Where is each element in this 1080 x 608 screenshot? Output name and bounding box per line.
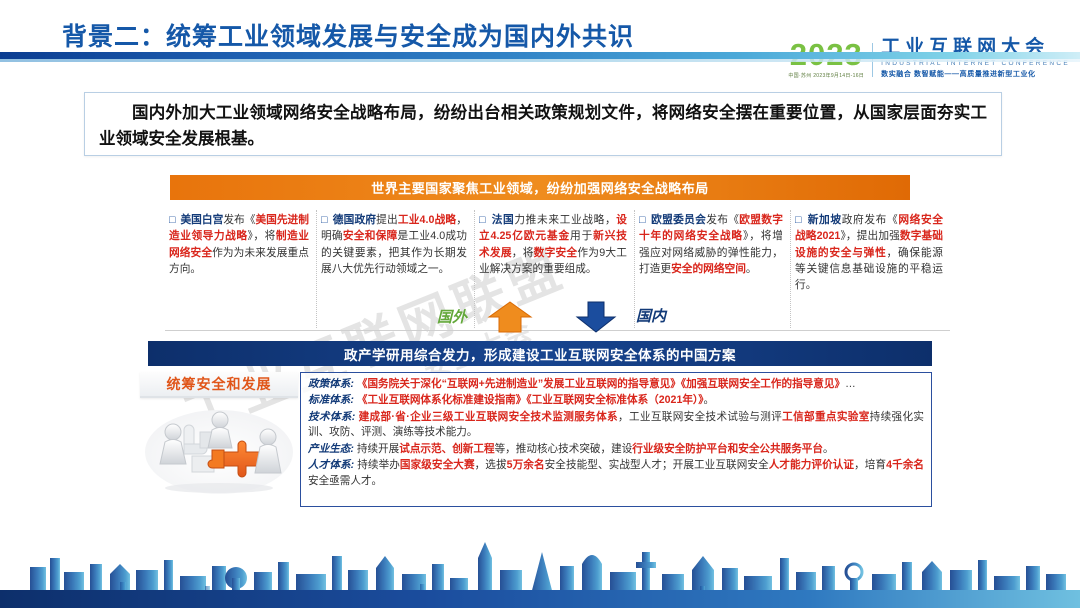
content-row: 技术体系: 建成部·省·企业三级工业互联网安全技术监测服务体系，工业互联网安全技… [308,410,924,441]
card-bullet-icon: □ [479,214,490,226]
banner-blue: 政产学研用综合发力，形成建设工业互联网安全体系的中国方案 [148,341,932,366]
card-country-name: 新加坡 [808,214,842,226]
teamwork-puzzle-illustration [140,404,298,496]
highlight-text: 工信部重点实验室 [782,411,870,423]
header-rule-secondary [0,59,1080,62]
highlight-text: 行业级安全防护平台和安全公共服务平台 [632,443,823,455]
china-plan-content-box: 政策体系: 《国务院关于深化“互联网+先进制造业”发展工业互联网的指导意见》《加… [300,372,932,507]
content-row-list: 政策体系: 《国务院关于深化“互联网+先进制造业”发展工业互联网的指导意见》《加… [308,377,924,489]
card-country-name: 德国政府 [333,214,376,226]
page-title: 背景二：统筹工业领域发展与安全成为国内外共识 [62,17,634,53]
lead-statement-box: 国内外加大工业领域网络安全战略布局，纷纷出台相关政策规划文件，将网络安全摆在重要… [84,92,1002,156]
body-text: 持续开展 [354,443,399,455]
card-bullet-icon: □ [639,214,649,226]
tag-overseas: 国外 [437,306,467,327]
tag-domestic: 国内 [636,305,666,326]
card-bullet-icon: □ [321,214,331,226]
left-label-group: 统筹安全和发展 [140,372,300,496]
highlight-text: 数字安全 [534,247,578,259]
content-row: 人才体系: 持续举办国家级安全大赛，选拔5万余名安全技能型、实战型人才；开展工业… [308,458,924,489]
content-row-key: 政策体系: [308,378,354,390]
highlight-text: 《国务院关于深化“互联网+先进制造业”发展工业互联网的指导意见》《加强互联网安全… [357,378,845,390]
body-text: 发布《 [706,214,739,226]
arrow-down-blue-icon [575,300,617,334]
highlight-text: 人才能力评价认证 [769,459,854,471]
banner-blue-text: 政产学研用综合发力，形成建设工业互联网安全体系的中国方案 [344,344,736,364]
body-text: 提出 [376,214,398,226]
slide-root: 背景二：统筹工业领域发展与安全成为国内外共识 2023 中国·苏州 2023年9… [0,0,1080,608]
logo-date: 中国·苏州 2023年9月14日-16日 [788,72,864,79]
body-text: 》，提出加强 [840,230,900,242]
body-text: 安全技能型、实战型人才；开展工业互联网安全 [545,459,769,471]
country-card: □ 美国白宫发布《美国先进制造业领导力战略》，将制造业网络安全作为为未来发展重点… [165,210,317,328]
body-text: 》，将 [248,230,276,242]
body-text: ，选拔 [475,459,507,471]
city-base-strip [0,590,1080,608]
body-text: 用于 [570,230,593,242]
content-row-key: 人才体系: [308,459,354,471]
body-text: ，培育 [854,459,886,471]
body-text: 力推未来工业战略， [514,214,616,226]
body-text: ，工业互联网安全技术试验与测评 [618,411,782,423]
banner-orange-text: 世界主要国家聚焦工业领域，纷纷加强网络安全战略布局 [371,178,709,197]
body-text: 发布《 [223,214,255,226]
card-country-name: 法国 [492,214,515,226]
body-text: … [845,378,856,390]
card-bullet-icon: □ [169,214,178,226]
country-card-row: □ 美国白宫发布《美国先进制造业领导力战略》，将制造业网络安全作为为未来发展重点… [165,210,950,328]
highlight-text: 试点示范、创新工程 [399,443,494,455]
highlight-text: 安全的网络空间 [671,263,746,275]
body-text: 安全亟需人才。 [308,475,382,487]
body-text: 。 [746,263,757,275]
content-row-key: 技术体系: [308,411,355,423]
highlight-text: 国家级安全大赛 [400,459,475,471]
country-card: □ 新加坡政府发布《网络安全战略2021》，提出加强数字基础设施的安全与弹性，确… [791,210,950,328]
card-country-name: 美国白宫 [180,214,223,226]
card-row-divider [165,330,950,331]
left-label: 统筹安全和发展 [140,372,298,398]
body-text: 。 [704,394,715,406]
header-rule [0,52,1080,59]
card-bullet-icon: □ [795,214,806,226]
lead-statement-text: 国内外加大工业领域网络安全战略布局，纷纷出台相关政策规划文件，将网络安全摆在重要… [99,101,987,152]
content-row: 产业生态: 持续开展试点示范、创新工程等，推动核心技术突破，建设行业级安全防护平… [308,442,924,457]
card-country-name: 欧盟委员会 [651,214,706,226]
body-text: 政府发布《 [842,214,899,226]
logo-subtitle: 数实融合 数智赋能——高质量推进新型工业化 [881,69,1070,79]
highlight-text: 《工业互联网体系化标准建设指南》《工业互联网安全标准体系（2021年）》 [357,394,704,406]
highlight-text: 建成部·省·企业三级工业互联网安全技术监测服务体系 [359,411,618,423]
content-row-key: 产业生态: [308,443,354,455]
slide-header: 背景二：统筹工业领域发展与安全成为国内外共识 2023 中国·苏州 2023年9… [0,0,1080,82]
body-text: ，将 [512,247,534,259]
highlight-text: 工业4.0战略 [398,214,456,226]
body-text: 等，推动核心技术突破，建设 [495,443,633,455]
content-row-key: 标准体系: [308,394,354,406]
highlight-text: 4千余名 [886,459,924,471]
banner-orange: 世界主要国家聚焦工业领域，纷纷加强网络安全战略布局 [170,175,910,200]
highlight-text: 安全和保障 [343,230,398,242]
content-row: 政策体系: 《国务院关于深化“互联网+先进制造业”发展工业互联网的指导意见》《加… [308,377,924,392]
body-text: 持续举办 [354,459,400,471]
content-row: 标准体系: 《工业互联网体系化标准建设指南》《工业互联网安全标准体系（2021年… [308,393,924,408]
city-skyline-decoration [0,513,1080,608]
body-text: 。 [823,443,834,455]
highlight-text: 5万余名 [507,459,545,471]
